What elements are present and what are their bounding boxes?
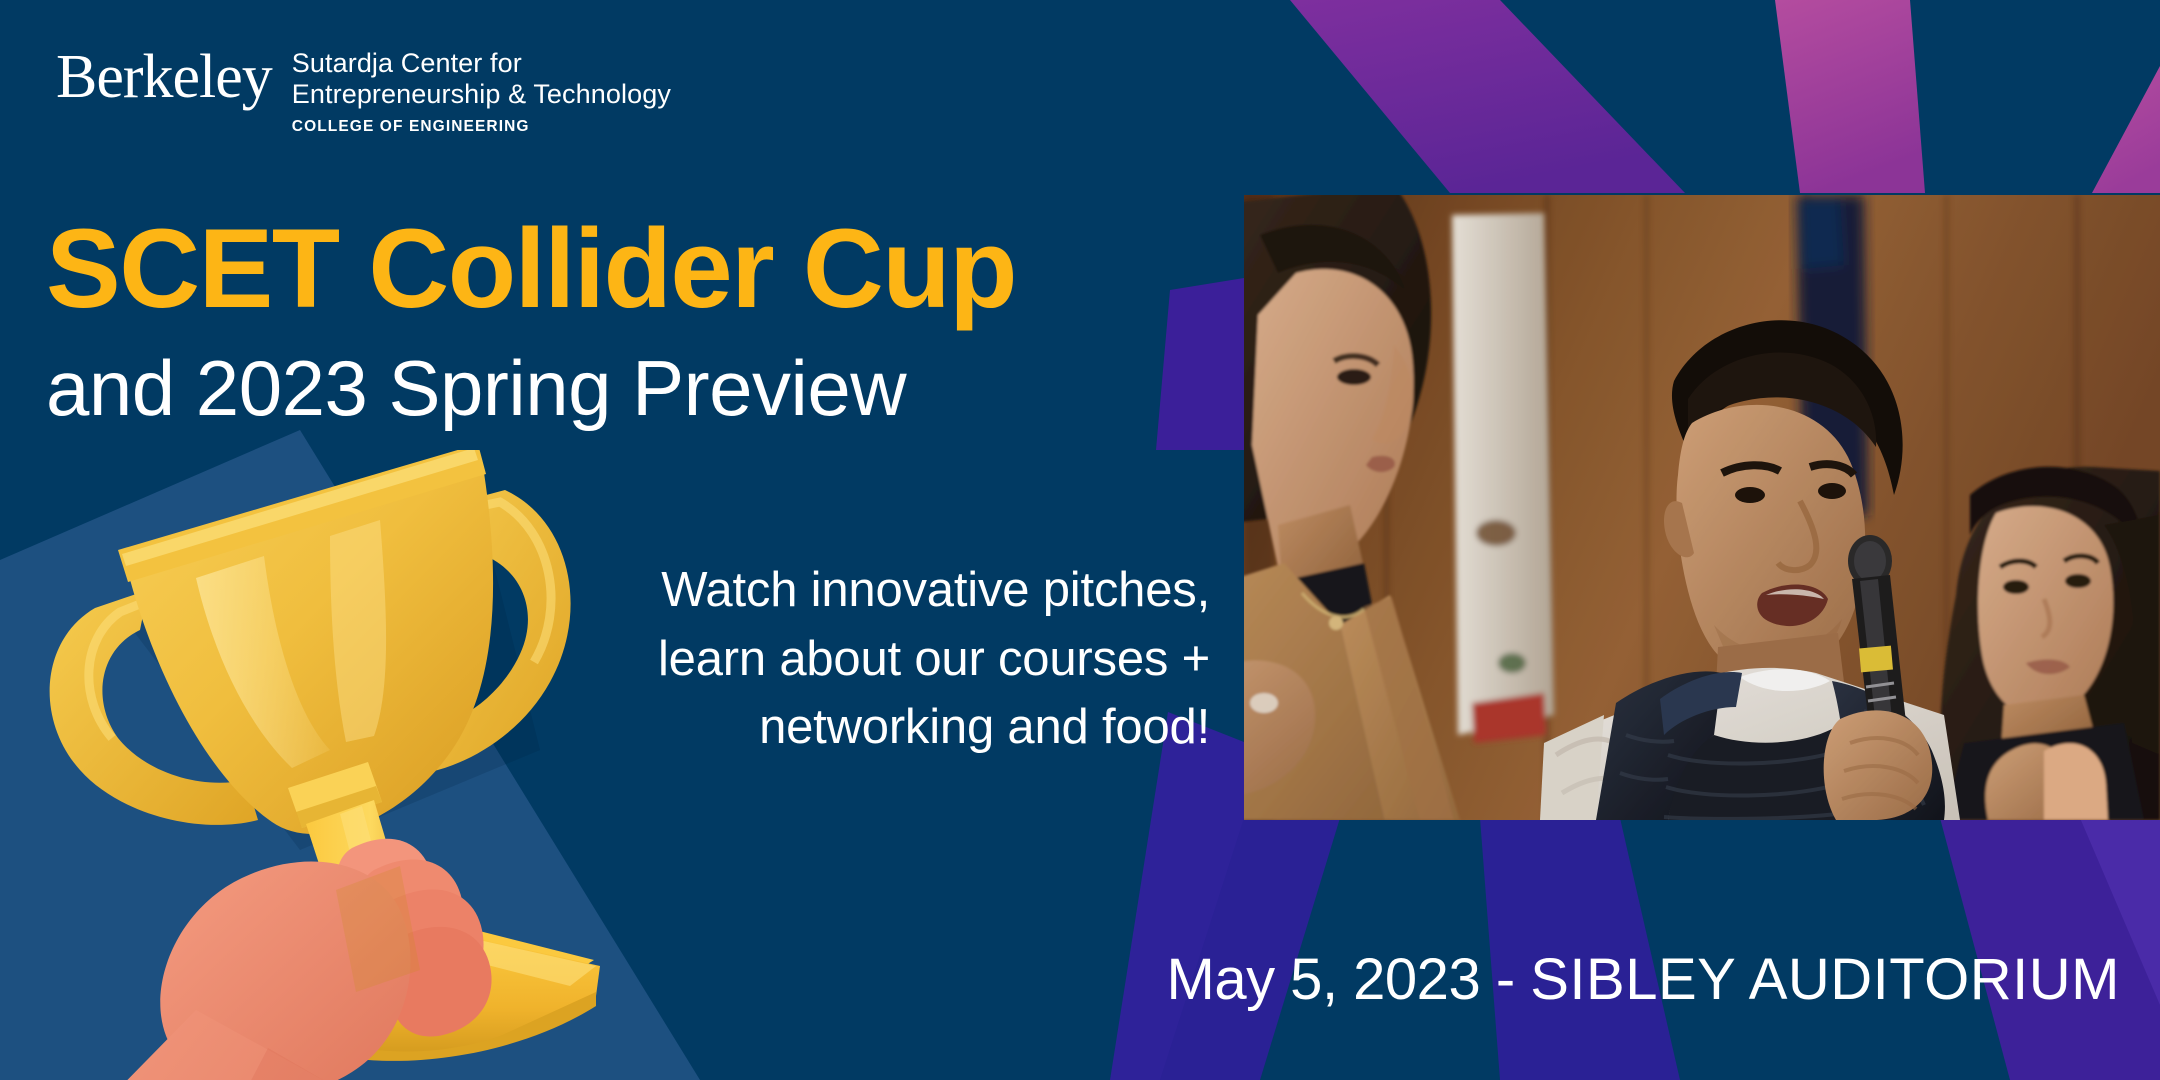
trophy-illustration (0, 450, 640, 1080)
berkeley-scet-logo: Berkeley Sutardja Center for Entrepreneu… (56, 42, 671, 136)
scet-line-3: COLLEGE OF ENGINEERING (292, 118, 671, 136)
scet-line-1: Sutardja Center for (292, 48, 671, 79)
headline-block: SCET Collider Cup and 2023 Spring Previe… (46, 212, 1206, 430)
ray-purple-top-left (1290, 0, 1685, 193)
event-description: Watch innovative pitches, learn about ou… (560, 556, 1210, 762)
event-photo-graphic (1244, 195, 2160, 820)
scet-lockup: Sutardja Center for Entrepreneurship & T… (292, 42, 671, 136)
event-photo (1244, 195, 2160, 820)
event-date: May 5, 2023 (1167, 947, 1481, 1012)
ray-magenta-top-right (1775, 0, 1925, 193)
blurb-line-3: networking and food! (560, 693, 1210, 762)
event-venue: SIBLEY AUDITORIUM (1530, 947, 2120, 1012)
berkeley-wordmark: Berkeley (56, 42, 272, 108)
poster-canvas: Berkeley Sutardja Center for Entrepreneu… (0, 0, 2160, 1080)
photo-grade-overlay (1244, 195, 2160, 820)
page-title: SCET Collider Cup (46, 212, 1206, 326)
event-details-footer: May 5, 2023 - SIBLEY AUDITORIUM (1100, 946, 2120, 1013)
ray-magenta-far-right (2092, 66, 2160, 193)
rays-upper (1290, 0, 2160, 193)
event-separator: - (1480, 947, 1530, 1012)
blurb-line-2: learn about our courses + (560, 625, 1210, 694)
scet-line-2: Entrepreneurship & Technology (292, 79, 671, 110)
page-subtitle: and 2023 Spring Preview (46, 348, 1206, 430)
blurb-line-1: Watch innovative pitches, (560, 556, 1210, 625)
